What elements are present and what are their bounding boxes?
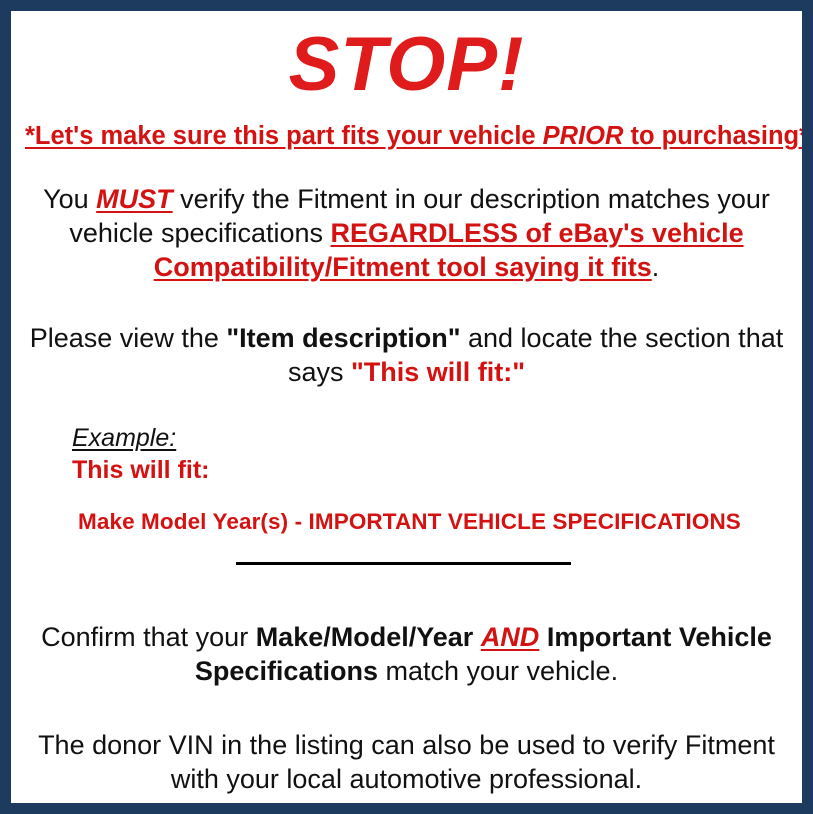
page-title: STOP! [25,11,788,107]
item-description-emphasis: "Item description" [226,323,460,353]
divider-rule [236,562,571,565]
verify-fitment-paragraph: You MUST verify the Fitment in our descr… [25,151,788,284]
example-spec-line: Make Model Year(s) - IMPORTANT VEHICLE S… [72,486,788,536]
thank-you-message: Thank you for confirming Fitment! [25,796,788,814]
confirm-paragraph: Confirm that your Make/Model/Year AND Im… [25,576,788,688]
and-emphasis: AND [481,622,540,652]
divider [25,536,788,576]
verify-lead-text: You [43,184,96,214]
subtitle-part-1: *Let's make sure this part fits your veh… [25,122,543,150]
subtitle-banner: *Let's make sure this part fits your veh… [25,107,788,151]
confirm-tail-text: match your vehicle. [378,656,618,686]
subtitle-part-2: to purchasing* [623,122,809,150]
this-will-fit-emphasis: "This will fit:" [351,357,525,387]
example-label: Example: [72,423,176,453]
make-model-year-emphasis: Make/Model/Year [256,622,474,652]
verify-period: . [652,252,660,282]
notice-content-area: STOP! *Let's make sure this part fits yo… [11,11,802,803]
example-block: Example: This will fit: Make Model Year(… [25,389,788,536]
donor-vin-paragraph: The donor VIN in the listing can also be… [25,688,788,796]
fitment-notice-frame: STOP! *Let's make sure this part fits yo… [0,0,813,814]
confirm-lead-text: Confirm that your [41,622,256,652]
must-emphasis: MUST [96,184,173,214]
subtitle-emphasis-prior: PRIOR [543,122,624,150]
view-lead-text: Please view the [30,323,227,353]
example-fit-header: This will fit: [72,453,788,486]
view-description-paragraph: Please view the "Item description" and l… [25,284,788,389]
